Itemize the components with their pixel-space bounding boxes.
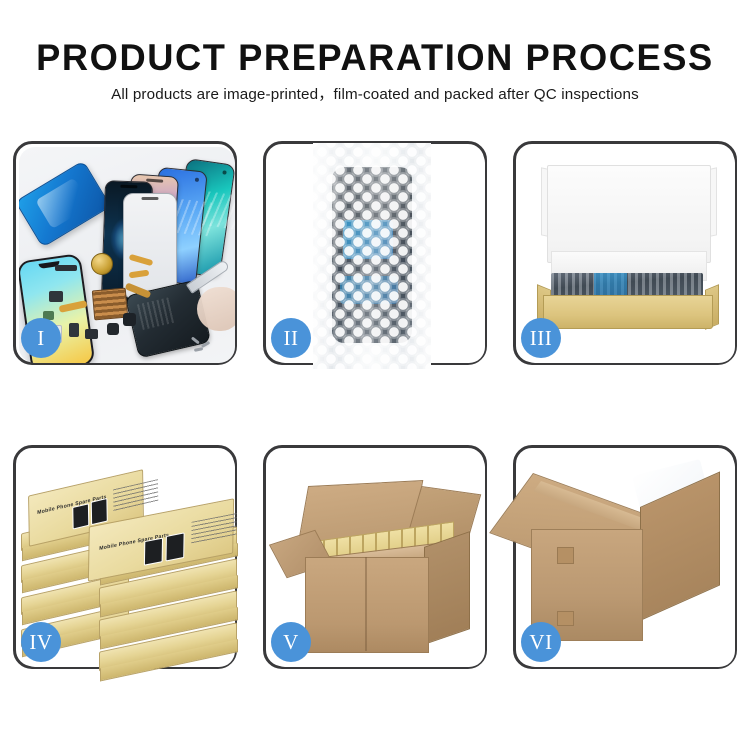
step-panel-1[interactable]: I (13, 141, 237, 365)
step-badge-6: VI (521, 622, 561, 662)
steps-row-bottom: Mobile Phone Spare Parts Mobile Phone Sp… (13, 445, 737, 669)
step-panel-6[interactable]: VI (513, 445, 737, 669)
page-title: PRODUCT PREPARATION PROCESS (8, 36, 743, 80)
box-print-spec-lines-front (191, 513, 237, 544)
page-subtitle: All products are image-printed，film-coat… (0, 85, 750, 105)
steps-grid: I II (13, 141, 737, 669)
box-print-spec-lines-back (113, 479, 158, 512)
step-badge-5: V (271, 622, 311, 662)
carton-side-right (424, 531, 470, 645)
plastic-sheen (313, 143, 431, 369)
open-carton (281, 477, 477, 657)
carton-handle-tab-top (557, 547, 574, 564)
carton-seam (365, 557, 367, 651)
hand-icon (197, 287, 235, 331)
vibration-motor-icon (91, 253, 113, 275)
box-front-panel (543, 295, 713, 329)
part-speaker-icon (107, 323, 119, 335)
carton-handle-tab-bottom (557, 611, 574, 626)
step-badge-2: II (271, 318, 311, 358)
box-lid-back (547, 165, 711, 263)
header: PRODUCT PREPARATION PROCESS All products… (0, 0, 750, 105)
bubble-wrap-bag (313, 143, 431, 369)
part-button-icon (69, 323, 79, 337)
part-earpiece-icon (55, 265, 77, 271)
screws-icon (191, 337, 217, 353)
part-connector-icon (49, 291, 63, 302)
step-panel-4[interactable]: Mobile Phone Spare Parts Mobile Phone Sp… (13, 445, 237, 669)
step-panel-5[interactable]: V (263, 445, 487, 669)
part-camera-icon (123, 313, 136, 326)
box-print-screen-2 (91, 498, 108, 525)
box-print-screen-4 (166, 532, 185, 561)
step-badge-3: III (521, 318, 561, 358)
step-badge-4: IV (21, 622, 61, 662)
steps-row-top: I II (13, 141, 737, 365)
part-module-icon (85, 329, 98, 339)
step-badge-1: I (21, 318, 61, 358)
box-print-screen-1 (72, 503, 89, 529)
product-preparation-infographic: PRODUCT PREPARATION PROCESS All products… (0, 0, 750, 750)
step-panel-2[interactable]: II (263, 141, 487, 365)
box-print-screen-3 (144, 538, 163, 566)
step-panel-3[interactable]: III (513, 141, 737, 365)
carton-front (305, 557, 429, 653)
